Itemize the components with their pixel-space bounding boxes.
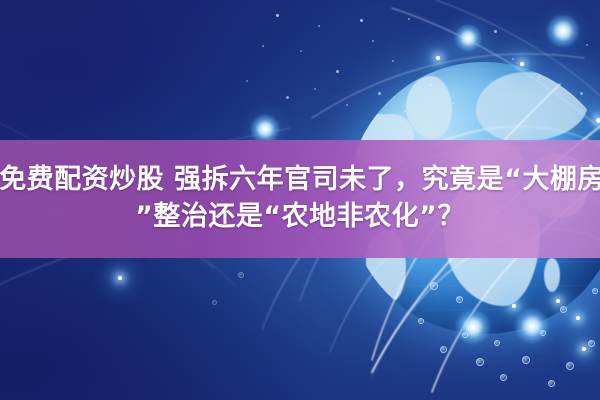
particle xyxy=(318,25,320,27)
particle-bubble xyxy=(592,288,598,294)
network-flare xyxy=(514,308,550,344)
particle-bubble xyxy=(588,340,595,347)
particle xyxy=(336,70,339,73)
caption-line-1: 免费配资炒股 强拆六年官司未了，究竟是“大棚房 xyxy=(0,163,600,198)
particle xyxy=(378,92,381,95)
particle xyxy=(580,92,583,95)
particle xyxy=(276,14,279,17)
particle-bubble xyxy=(418,318,424,324)
particle xyxy=(360,19,363,22)
particle-bubble xyxy=(566,362,574,370)
particle-bubble xyxy=(540,330,546,336)
network-node xyxy=(436,56,440,60)
particle-bubble xyxy=(440,346,447,353)
network-node xyxy=(512,304,516,308)
particle-bubble xyxy=(238,272,244,278)
particle xyxy=(346,104,348,106)
landmass-madagascar xyxy=(544,258,560,292)
particle xyxy=(300,50,302,52)
particle-bubble xyxy=(476,358,484,366)
network-node xyxy=(596,118,600,123)
caption-line-2: ”整治还是“农地非农化”？ xyxy=(135,200,465,235)
network-node xyxy=(520,62,524,66)
particle xyxy=(586,44,588,46)
network-node xyxy=(118,276,122,280)
particle-bubble xyxy=(548,380,555,387)
particle-bubble xyxy=(430,282,438,290)
particle-bubble xyxy=(560,306,567,313)
particle-bubble xyxy=(494,340,500,346)
network-flare xyxy=(546,14,580,48)
landmass-greenland xyxy=(406,76,452,138)
particle xyxy=(404,110,406,112)
particle xyxy=(538,76,540,78)
particle xyxy=(512,58,514,60)
network-node xyxy=(556,299,560,303)
banner-image: 免费配资炒股 强拆六年官司未了，究竟是“大棚房 ”整治还是“农地非农化”？ xyxy=(0,0,600,400)
particle xyxy=(430,84,432,86)
particle-bubble xyxy=(462,332,468,338)
particle-bubble xyxy=(500,374,507,381)
particle xyxy=(286,96,289,99)
network-flare xyxy=(454,24,482,52)
network-node xyxy=(576,316,580,320)
caption-text: 免费配资炒股 强拆六年官司未了，究竟是“大棚房 ”整治还是“农地非农化”？ xyxy=(0,140,600,258)
particle xyxy=(408,18,410,20)
particle-bubble xyxy=(456,296,463,303)
particle-bubble xyxy=(522,356,530,364)
particle xyxy=(246,80,248,82)
network-flare xyxy=(455,309,491,345)
particle xyxy=(372,40,374,42)
particle xyxy=(262,45,264,47)
particle xyxy=(392,60,394,62)
particle xyxy=(314,88,316,90)
particle xyxy=(452,102,454,104)
particle-bubble xyxy=(212,300,217,305)
network-node xyxy=(582,347,586,351)
particle xyxy=(494,30,497,33)
